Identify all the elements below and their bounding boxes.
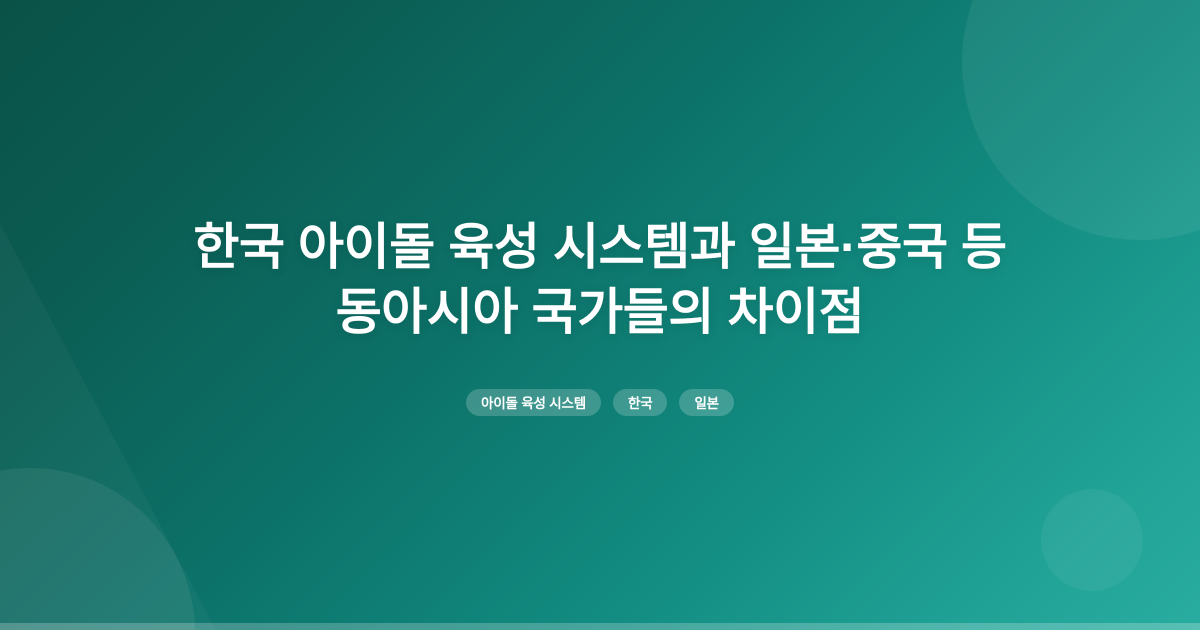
card-content: 한국 아이돌 육성 시스템과 일본·중국 등 동아시아 국가들의 차이점 아이돌… bbox=[0, 0, 1200, 630]
tag-list: 아이돌 육성 시스템 한국 일본 bbox=[466, 389, 734, 416]
tag-pill-korea[interactable]: 한국 bbox=[613, 389, 667, 416]
tag-pill-japan[interactable]: 일본 bbox=[679, 389, 733, 416]
page-title-line-1: 한국 아이돌 육성 시스템과 일본·중국 등 bbox=[193, 215, 1006, 280]
page-title: 한국 아이돌 육성 시스템과 일본·중국 등 동아시아 국가들의 차이점 bbox=[193, 215, 1006, 345]
tag-pill-idol-training-system[interactable]: 아이돌 육성 시스템 bbox=[466, 389, 601, 416]
og-share-card: 한국 아이돌 육성 시스템과 일본·중국 등 동아시아 국가들의 차이점 아이돌… bbox=[0, 0, 1200, 630]
page-title-line-2: 동아시아 국가들의 차이점 bbox=[193, 280, 1006, 345]
